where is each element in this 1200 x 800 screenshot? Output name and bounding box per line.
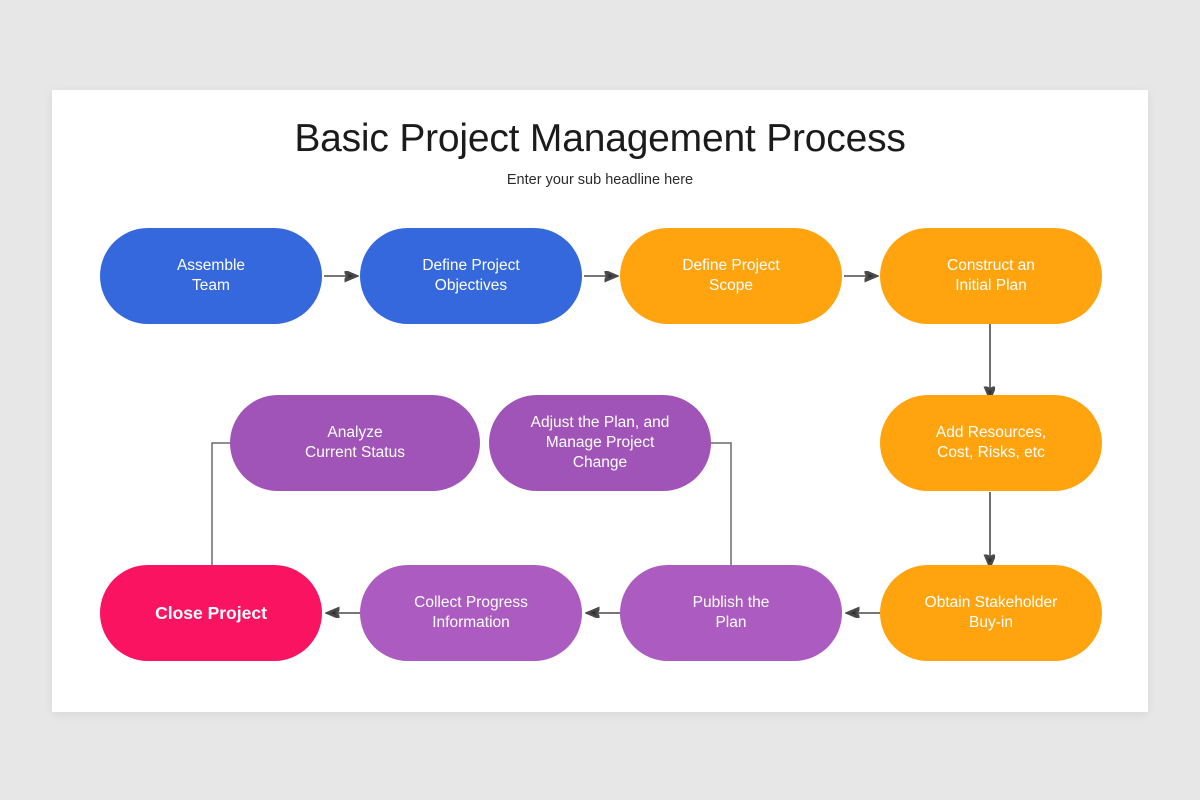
node-collect-progress[interactable]: Collect Progress Information <box>360 565 582 661</box>
node-assemble-team[interactable]: Assemble Team <box>100 228 322 324</box>
node-close-project[interactable]: Close Project <box>100 565 322 661</box>
node-obtain-stakeholder-buy-in[interactable]: Obtain Stakeholder Buy-in <box>880 565 1102 661</box>
node-adjust-plan[interactable]: Adjust the Plan, and Manage Project Chan… <box>489 395 711 491</box>
slide-card: Basic Project Management Process Enter y… <box>52 90 1148 712</box>
node-add-resources[interactable]: Add Resources, Cost, Risks, etc <box>880 395 1102 491</box>
node-define-scope[interactable]: Define Project Scope <box>620 228 842 324</box>
process-flow-diagram: Assemble Team Define Project Objectives … <box>52 90 1148 712</box>
node-construct-initial-plan[interactable]: Construct an Initial Plan <box>880 228 1102 324</box>
node-analyze-current-status[interactable]: Analyze Current Status <box>230 395 480 491</box>
node-publish-plan[interactable]: Publish the Plan <box>620 565 842 661</box>
node-define-objectives[interactable]: Define Project Objectives <box>360 228 582 324</box>
